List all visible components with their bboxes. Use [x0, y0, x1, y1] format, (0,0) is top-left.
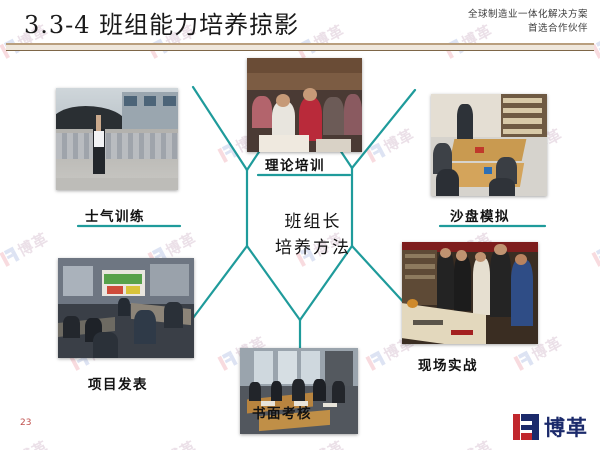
photo-theory-training: [247, 58, 362, 152]
watermark-mark: 博革: [294, 435, 348, 450]
watermark-text: 博革: [458, 435, 496, 450]
photo-sandtable-simulation: [431, 94, 547, 196]
diagram-center-label: 班组长 培养方法: [248, 210, 378, 261]
header-divider: [6, 43, 594, 51]
node-label-sandtable-sim: 沙盘模拟: [450, 205, 510, 225]
watermark-mark: 博革: [442, 435, 496, 450]
tagline-line-2: 首选合作伙伴: [468, 22, 588, 36]
watermark-text: 博革: [14, 435, 52, 450]
company-tagline: 全球制造业一体化解决方案 首选合作伙伴: [468, 8, 588, 36]
watermark-text: 博革: [162, 435, 200, 450]
center-line-2: 培养方法: [248, 236, 378, 262]
tagline-line-1: 全球制造业一体化解决方案: [468, 8, 588, 22]
watermark-text: 博革: [310, 435, 348, 450]
company-logo: 博革: [513, 412, 588, 442]
photo-onsite-practice: [402, 242, 538, 344]
watermark-mark: 博革: [0, 435, 52, 450]
photo-project-presentation: [58, 258, 194, 358]
bogo-logo-icon: [513, 414, 539, 440]
page-title: 3.3-4 班组能力培养掠影: [24, 5, 299, 40]
watermark-mark: 博革: [590, 435, 600, 450]
node-label-project-presentation: 项目发表: [88, 373, 148, 393]
node-label-morale-training: 士气训练: [85, 205, 145, 225]
logo-text: 博革: [544, 412, 588, 442]
center-line-1: 班组长: [248, 210, 378, 236]
photo-morale-training: [56, 88, 178, 190]
node-label-onsite-practice: 现场实战: [418, 354, 478, 374]
training-methods-diagram: 士气训练 理论培训 沙盘模拟 现场实战 书面考核 项目发表 班组长 培养方法: [0, 50, 600, 410]
node-label-theory-training: 理论培训: [265, 154, 325, 174]
page-number: 23: [20, 418, 31, 428]
watermark-mark: 博革: [146, 435, 200, 450]
node-label-written-assessment: 书面考核: [252, 402, 312, 422]
slide-header: 3.3-4 班组能力培养掠影 全球制造业一体化解决方案 首选合作伙伴: [0, 0, 600, 50]
